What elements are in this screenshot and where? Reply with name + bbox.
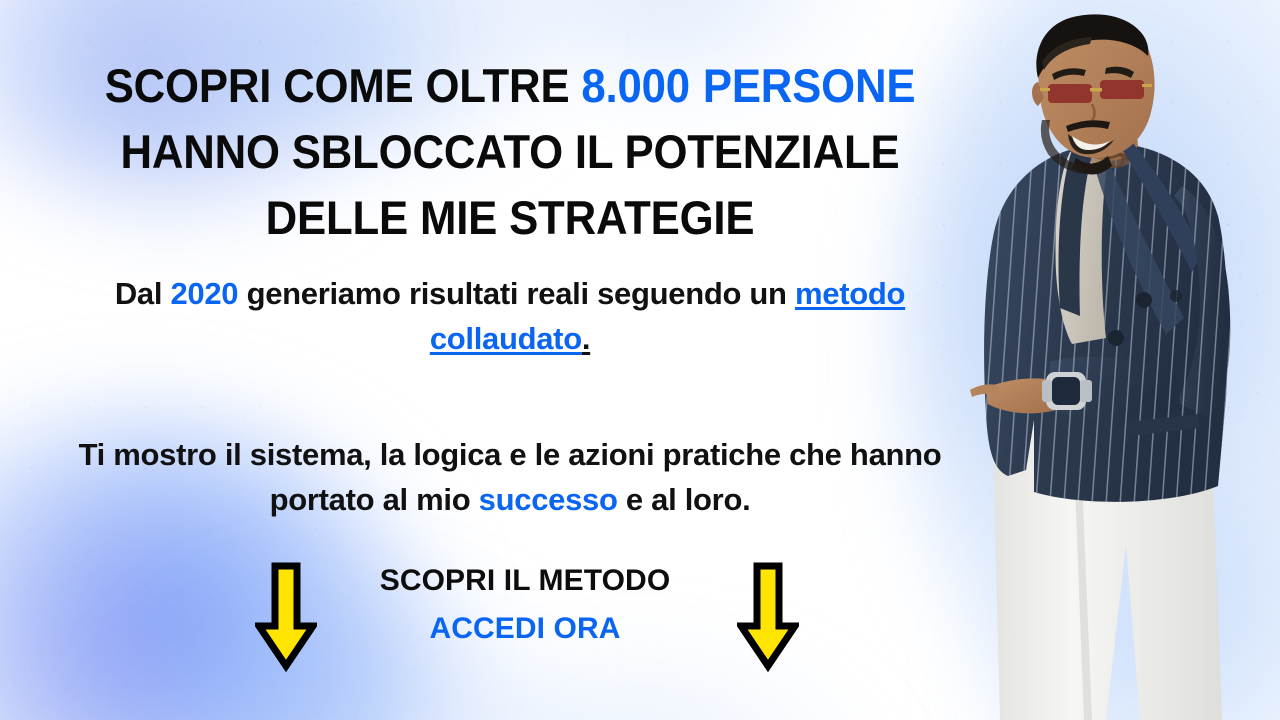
subtitle-2-suffix: e al loro. [618, 482, 751, 517]
subtitle-block-1: Dal 2020 generiamo risultati reali segue… [60, 272, 960, 362]
presenter-jacket-button [1170, 290, 1182, 302]
headline-line-1-text: SCOPRI COME OLTRE [105, 59, 582, 112]
headline-line-2: HANNO SBLOCCATO IL POTENZIALE [36, 128, 985, 175]
subtitle-year: 2020 [170, 276, 238, 311]
subtitle-middle: generiamo risultati reali seguendo un [238, 276, 795, 311]
headline-line-1: SCOPRI COME OLTRE 8.000PERSONE [36, 62, 985, 109]
subtitle-success-highlight: successo [479, 482, 618, 517]
cta-block[interactable]: SCOPRI IL METODO ACCEDI ORA [255, 556, 795, 674]
cta-action-link[interactable]: ACCEDI ORA [340, 610, 710, 648]
hero-banner: SCOPRI COME OLTRE 8.000PERSONE HANNO SBL… [0, 0, 1280, 720]
subtitle-period: . [582, 321, 590, 356]
cta-text: SCOPRI IL METODO ACCEDI ORA [340, 556, 710, 647]
cta-headline: SCOPRI IL METODO [340, 562, 710, 600]
headline-highlight-number: 8.000 [581, 59, 689, 112]
arrow-down-icon [255, 560, 317, 672]
headline-highlight-word: PERSONE [703, 59, 915, 112]
presenter-watch [1042, 372, 1092, 410]
subtitle-prefix: Dal [115, 276, 171, 311]
headline-line-3: DELLE MIE STRATEGIE [36, 194, 985, 241]
presenter-jacket-button [1108, 330, 1124, 346]
presenter-jacket-button [1136, 292, 1152, 308]
subtitle-block-2: Ti mostro il sistema, la logica e le azi… [60, 433, 960, 523]
arrow-down-icon [737, 560, 799, 672]
